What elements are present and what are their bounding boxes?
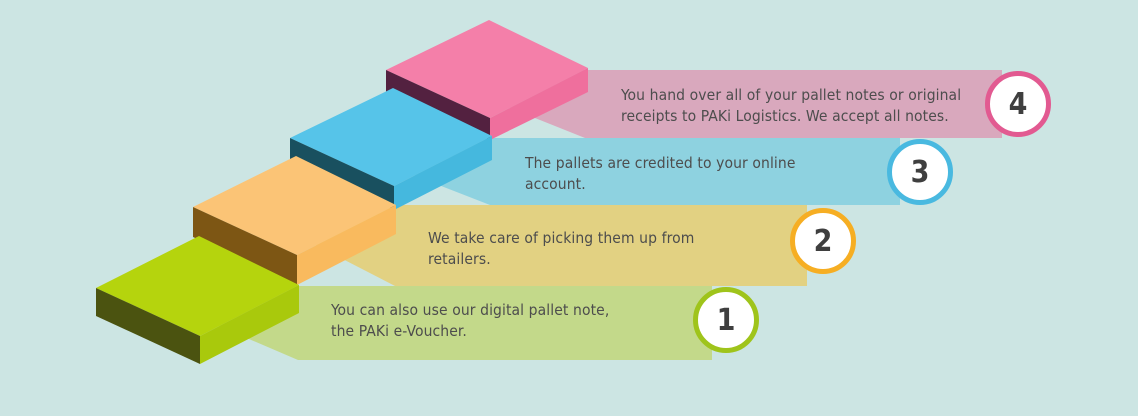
infographic-staircase: You hand over all of your pallet notes o… — [0, 0, 1138, 416]
step-3-text: The pallets are credited to your online … — [525, 153, 885, 196]
step-1-number-badge[interactable]: 1 — [693, 287, 759, 353]
step-4-number-badge[interactable]: 4 — [985, 71, 1051, 137]
step-2-number-badge[interactable]: 2 — [790, 208, 856, 274]
step-3-number-badge[interactable]: 3 — [887, 139, 953, 205]
step-2-text: We take care of picking them up from ret… — [428, 228, 788, 271]
step-1-text: You can also use our digital pallet note… — [331, 300, 691, 343]
step-4-text: You hand over all of your pallet notes o… — [621, 85, 991, 128]
staircase-illustration — [0, 0, 1138, 416]
